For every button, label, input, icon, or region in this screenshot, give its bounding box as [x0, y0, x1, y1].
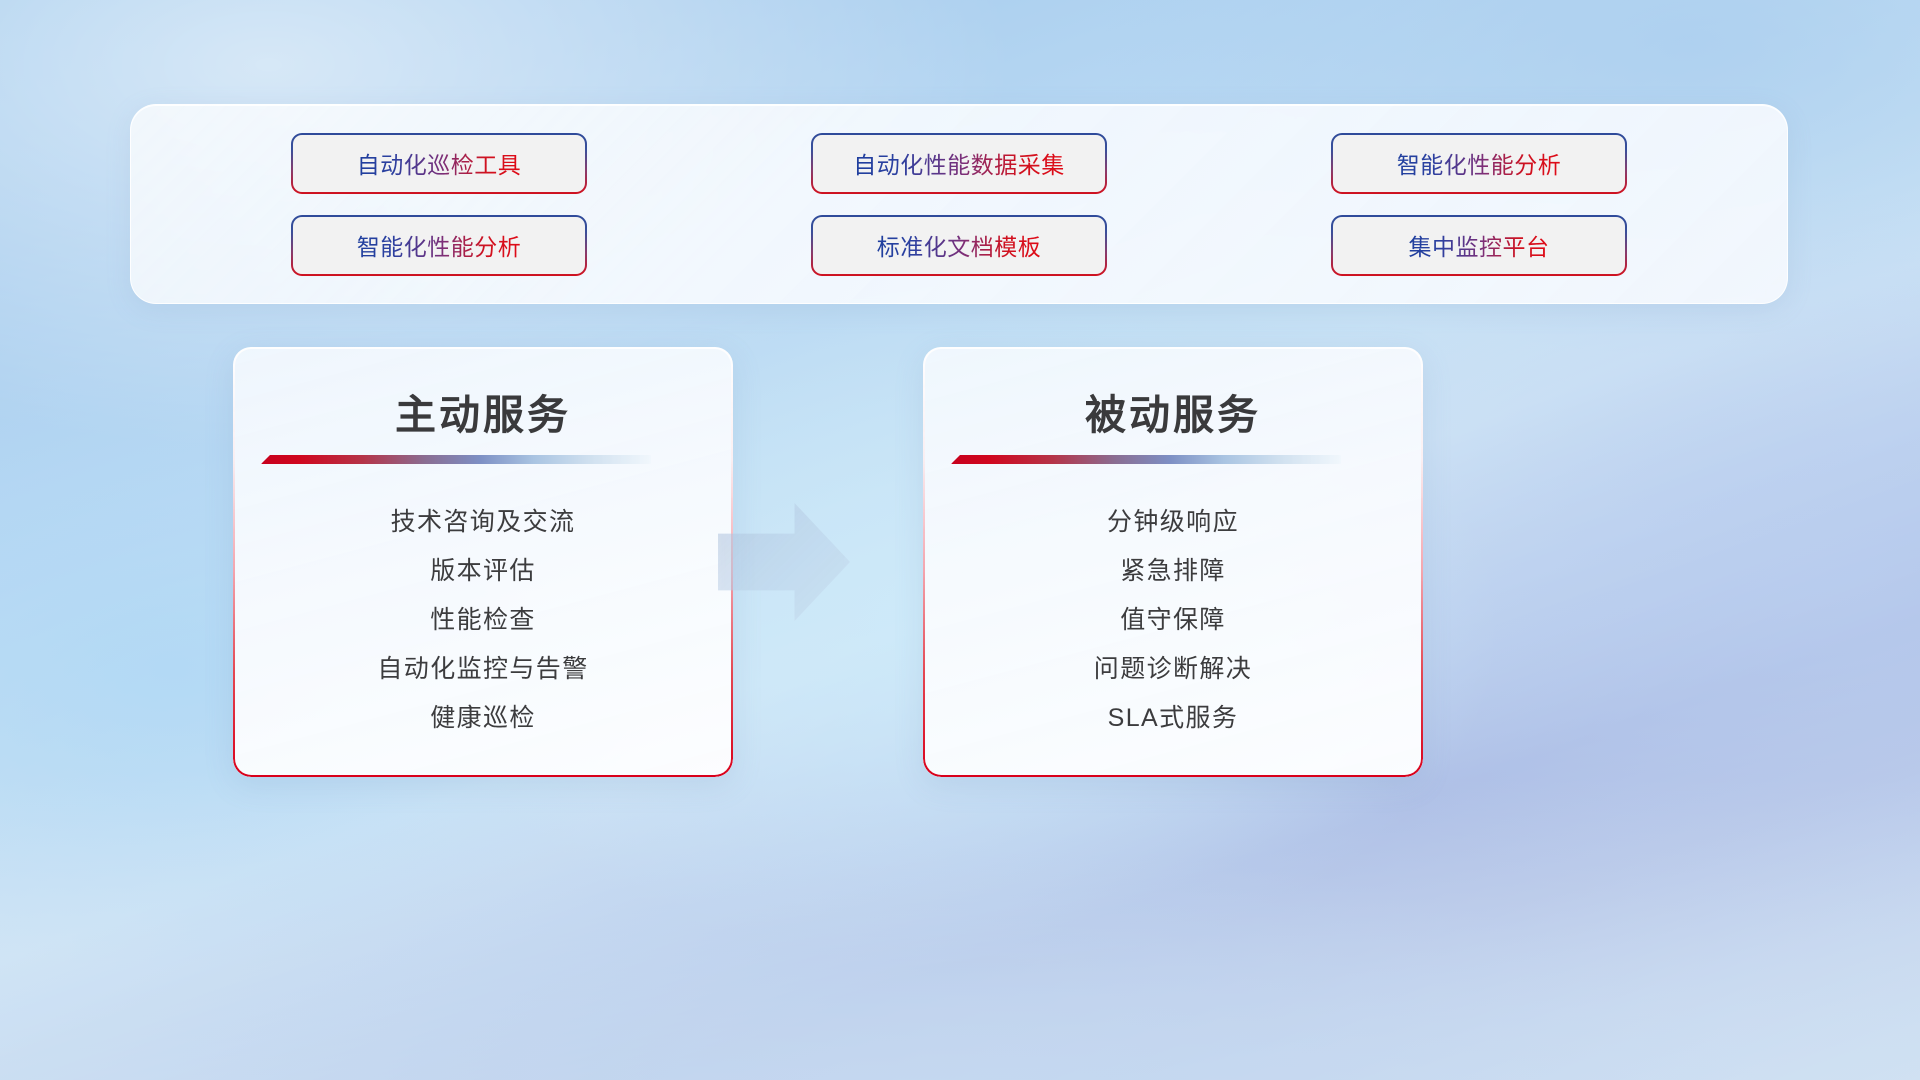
- capability-tag-label: 集中监控平台: [1409, 228, 1550, 262]
- card-title: 主动服务: [233, 381, 733, 441]
- capability-tag-label: 自动化性能数据采集: [853, 146, 1065, 180]
- card-item-list: 技术咨询及交流 版本评估 性能检查 自动化监控与告警 健康巡检: [233, 487, 733, 755]
- capability-tag-label: 标准化文档模板: [877, 228, 1042, 262]
- card-item-list: 分钟级响应 紧急排障 值守保障 问题诊断解决 SLA式服务: [923, 487, 1423, 755]
- capability-tag[interactable]: 集中监控平台: [1333, 217, 1625, 274]
- capability-tag-label: 智能化性能分析: [357, 228, 522, 262]
- list-item: 健康巡检: [430, 698, 536, 734]
- capability-tag[interactable]: 智能化性能分析: [1333, 135, 1625, 192]
- capability-tag[interactable]: 标准化文档模板: [813, 217, 1105, 274]
- list-item: 分钟级响应: [1107, 502, 1239, 538]
- capability-tag[interactable]: 自动化巡检工具: [293, 135, 585, 192]
- card-divider: [951, 455, 1341, 464]
- list-item: SLA式服务: [1108, 698, 1239, 734]
- list-item: 问题诊断解决: [1094, 649, 1252, 685]
- capability-tag[interactable]: 自动化性能数据采集: [813, 135, 1105, 192]
- card-divider: [261, 455, 651, 464]
- service-card-active: 主动服务 技术咨询及交流 版本评估 性能检查 自动化监控与告警 健康巡检: [233, 347, 733, 777]
- list-item: 性能检查: [430, 600, 536, 636]
- capabilities-panel: 自动化巡检工具 自动化性能数据采集 智能化性能分析 智能化性能分析 标准化文档模…: [130, 104, 1788, 304]
- capability-tag-label: 智能化性能分析: [1397, 146, 1562, 180]
- capability-tag-grid: 自动化巡检工具 自动化性能数据采集 智能化性能分析 智能化性能分析 标准化文档模…: [131, 105, 1787, 303]
- capability-tag[interactable]: 智能化性能分析: [293, 217, 585, 274]
- list-item: 版本评估: [430, 551, 536, 587]
- card-title: 被动服务: [923, 381, 1423, 441]
- list-item: 值守保障: [1120, 600, 1226, 636]
- capability-tag-label: 自动化巡检工具: [357, 146, 522, 180]
- list-item: 自动化监控与告警: [377, 649, 588, 685]
- list-item: 紧急排障: [1120, 551, 1226, 587]
- list-item: 技术咨询及交流: [391, 502, 576, 538]
- service-card-passive: 被动服务 分钟级响应 紧急排障 值守保障 问题诊断解决 SLA式服务: [923, 347, 1423, 777]
